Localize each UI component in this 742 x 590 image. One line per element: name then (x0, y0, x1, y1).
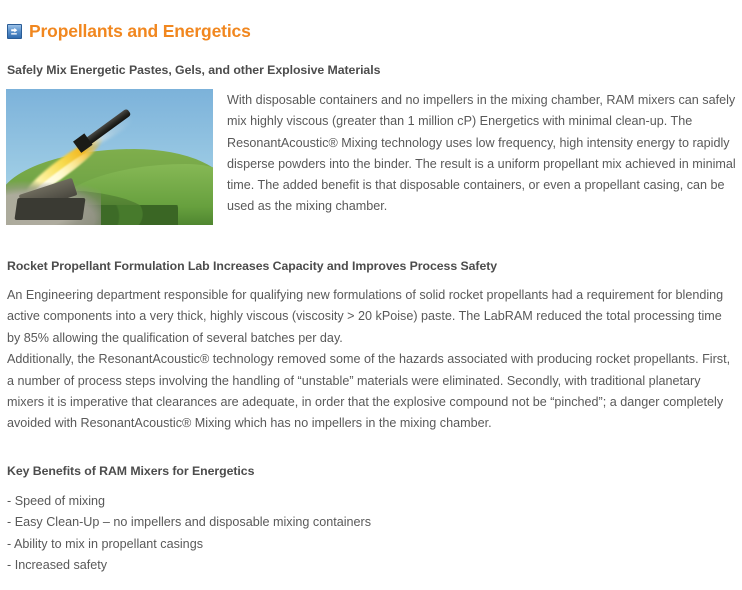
key-benefits-list: - Speed of mixing - Easy Clean-Up – no i… (6, 491, 736, 577)
paragraph-additionally: Additionally, the ResonantAcoustic® tech… (6, 349, 736, 435)
page-title: Propellants and Energetics (29, 21, 251, 42)
heading-safely-mix: Safely Mix Energetic Pastes, Gels, and o… (6, 63, 736, 77)
list-item: - Speed of mixing (7, 491, 736, 512)
photo-launcher-vehicle (15, 198, 86, 220)
figure-block-safely-mix: With disposable containers and no impell… (6, 89, 736, 229)
paragraph-engineering-department: An Engineering department responsible fo… (6, 285, 736, 349)
page-container: Propellants and Energetics Safely Mix En… (0, 0, 742, 590)
forward-arrow-icon (7, 24, 22, 39)
heading-rocket-lab: Rocket Propellant Formulation Lab Increa… (6, 259, 736, 273)
rocket-launch-photo (6, 89, 213, 225)
heading-key-benefits: Key Benefits of RAM Mixers for Energetic… (6, 464, 736, 478)
paragraph-safely-mix: With disposable containers and no impell… (227, 89, 736, 218)
list-item: - Easy Clean-Up – no impellers and dispo… (7, 512, 736, 533)
list-item: - Increased safety (7, 555, 736, 576)
list-item: - Ability to mix in propellant casings (7, 534, 736, 555)
page-title-row: Propellants and Energetics (6, 0, 736, 42)
